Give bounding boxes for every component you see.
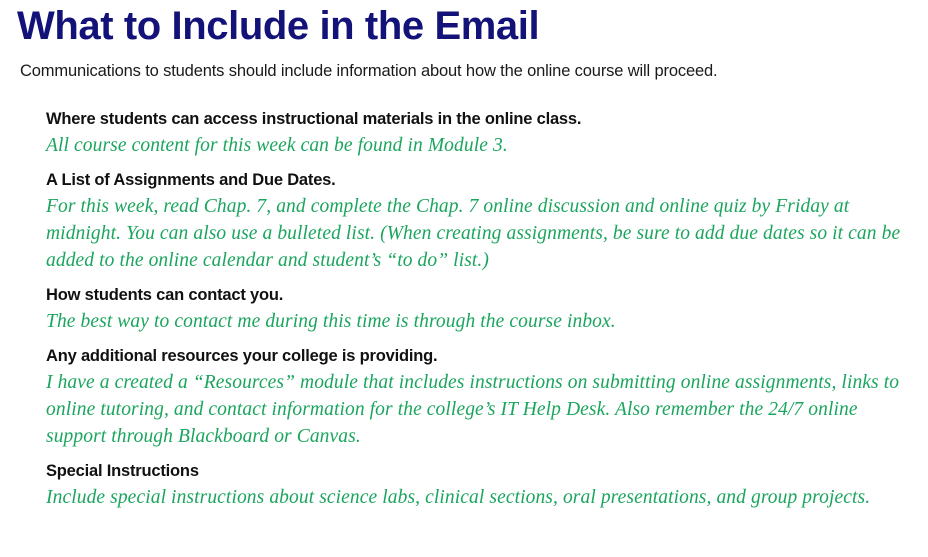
slide-subtitle: Communications to students should includ… [20,60,718,82]
section-heading: Special Instructions [46,460,924,482]
section-special-instructions: Special Instructions Include special ins… [46,460,924,511]
section-heading: How students can contact you. [46,284,924,306]
section-resources: Any additional resources your college is… [46,345,924,450]
page-title: What to Include in the Email [17,2,539,50]
section-heading: Any additional resources your college is… [46,345,924,367]
slide-canvas: What to Include in the Email Communicati… [0,0,928,557]
section-access: Where students can access instructional … [46,108,924,159]
section-body: The best way to contact me during this t… [46,308,924,335]
section-heading: Where students can access instructional … [46,108,924,130]
section-assignments: A List of Assignments and Due Dates. For… [46,169,924,274]
section-body: All course content for this week can be … [46,132,924,159]
section-contact: How students can contact you. The best w… [46,284,924,335]
section-body: For this week, read Chap. 7, and complet… [46,193,920,274]
section-body: Include special instructions about scien… [46,484,924,511]
content-list: Where students can access instructional … [46,108,924,511]
section-heading: A List of Assignments and Due Dates. [46,169,924,191]
section-body: I have a created a “Resources” module th… [46,369,918,450]
